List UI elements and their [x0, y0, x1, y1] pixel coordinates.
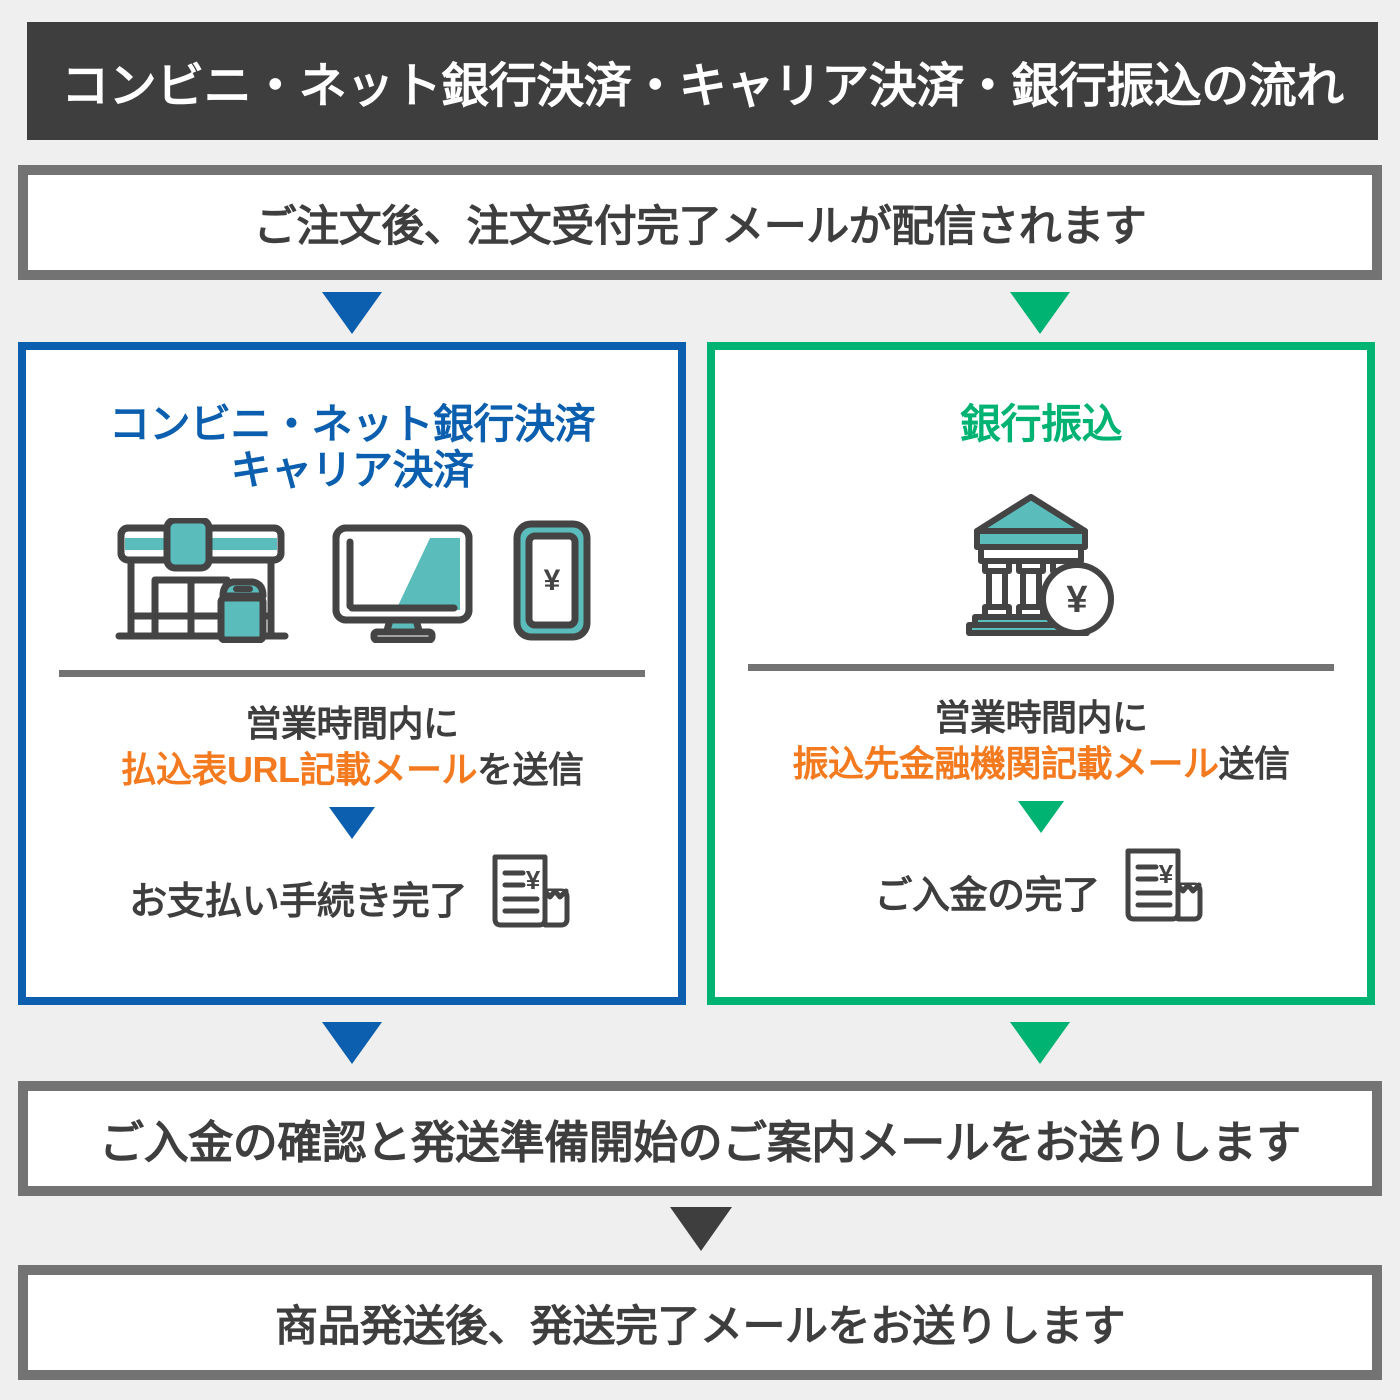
panel-furikomi-sub-line1: 営業時間内に [934, 697, 1147, 738]
svg-text:¥: ¥ [543, 564, 560, 597]
panel-konbini-sub-tail: を送信 [477, 749, 584, 790]
panel-furikomi-final-row: ご入金の完了 ¥ [715, 843, 1367, 940]
arrow-down-konbini-inner-icon [329, 807, 375, 839]
step-shipping-email-label: 商品発送後、発送完了メールをお送りします [275, 1292, 1125, 1354]
panel-furikomi: 銀行振込 [707, 342, 1375, 1005]
panel-konbini-heading: コンビニ・ネット銀行決済 キャリア決済 [26, 402, 678, 494]
panel-furikomi-sub-highlight: 振込先金融機関記載メール [792, 743, 1218, 784]
panel-konbini-final-label: お支払い手続き完了 [129, 870, 467, 925]
panel-konbini-divider [59, 670, 645, 677]
arrow-down-to-furikomi-icon [1010, 292, 1070, 334]
step-payment-confirm-box: ご入金の確認と発送準備開始のご案内メールをお送りします [18, 1081, 1382, 1196]
page-title: コンビニ・ネット銀行決済・キャリア決済・銀行振込の流れ [61, 46, 1344, 116]
panel-furikomi-divider [748, 664, 1334, 671]
arrow-down-from-konbini-icon [322, 1022, 382, 1064]
step-shipping-email-box: 商品発送後、発送完了メールをお送りします [18, 1265, 1382, 1380]
receipt-yen-icon: ¥ [483, 849, 575, 946]
bank-yen-icon: ¥ [955, 487, 1127, 642]
panel-furikomi-final-label: ご入金の完了 [874, 864, 1099, 919]
panel-furikomi-icon-row: ¥ [715, 512, 1367, 642]
panel-furikomi-heading-line1: 銀行振込 [960, 401, 1122, 447]
svg-text:¥: ¥ [1066, 579, 1087, 621]
step-order-email-box: ご注文後、注文受付完了メールが配信されます [18, 165, 1382, 280]
arrow-down-to-shipping-icon [670, 1207, 732, 1251]
panel-furikomi-subtext: 営業時間内に 振込先金融機関記載メール送信 [715, 695, 1367, 787]
step-order-email-label: ご注文後、注文受付完了メールが配信されます [254, 192, 1147, 254]
panel-konbini-heading-line1: コンビニ・ネット銀行決済 [109, 401, 595, 447]
panel-konbini: コンビニ・ネット銀行決済 キャリア決済 [18, 342, 686, 1005]
panel-konbini-sub-highlight: 払込表URL記載メール [120, 749, 477, 790]
panel-furikomi-inner-arrow-wrap [715, 801, 1367, 833]
page-title-bar: コンビニ・ネット銀行決済・キャリア決済・銀行振込の流れ [27, 22, 1378, 140]
arrow-down-from-furikomi-icon [1010, 1022, 1070, 1064]
panel-konbini-subtext: 営業時間内に 払込表URL記載メールを送信 [26, 701, 678, 793]
panel-konbini-inner-arrow-wrap [26, 807, 678, 839]
smartphone-yen-icon: ¥ [511, 518, 596, 648]
arrow-down-furikomi-inner-icon [1018, 801, 1064, 833]
panel-konbini-icon-row: ¥ [26, 518, 678, 648]
step-payment-confirm-label: ご入金の確認と発送準備開始のご案内メールをお送りします [99, 1106, 1301, 1171]
receipt-yen-icon: ¥ [1116, 843, 1208, 940]
flow-diagram-page: コンビニ・ネット銀行決済・キャリア決済・銀行振込の流れ ご注文後、注文受付完了メ… [0, 0, 1400, 1400]
desktop-monitor-icon [330, 518, 475, 648]
panel-konbini-final-row: お支払い手続き完了 ¥ [26, 849, 678, 946]
arrow-down-to-konbini-icon [322, 292, 382, 334]
panel-furikomi-heading: 銀行振込 [715, 402, 1367, 448]
panel-konbini-sub-line1: 営業時間内に [245, 703, 458, 744]
svg-text:¥: ¥ [1158, 859, 1173, 889]
svg-text:¥: ¥ [526, 865, 541, 895]
panel-konbini-heading-line2: キャリア決済 [231, 447, 474, 493]
panel-furikomi-sub-tail: 送信 [1219, 743, 1290, 784]
convenience-store-icon [109, 518, 294, 648]
